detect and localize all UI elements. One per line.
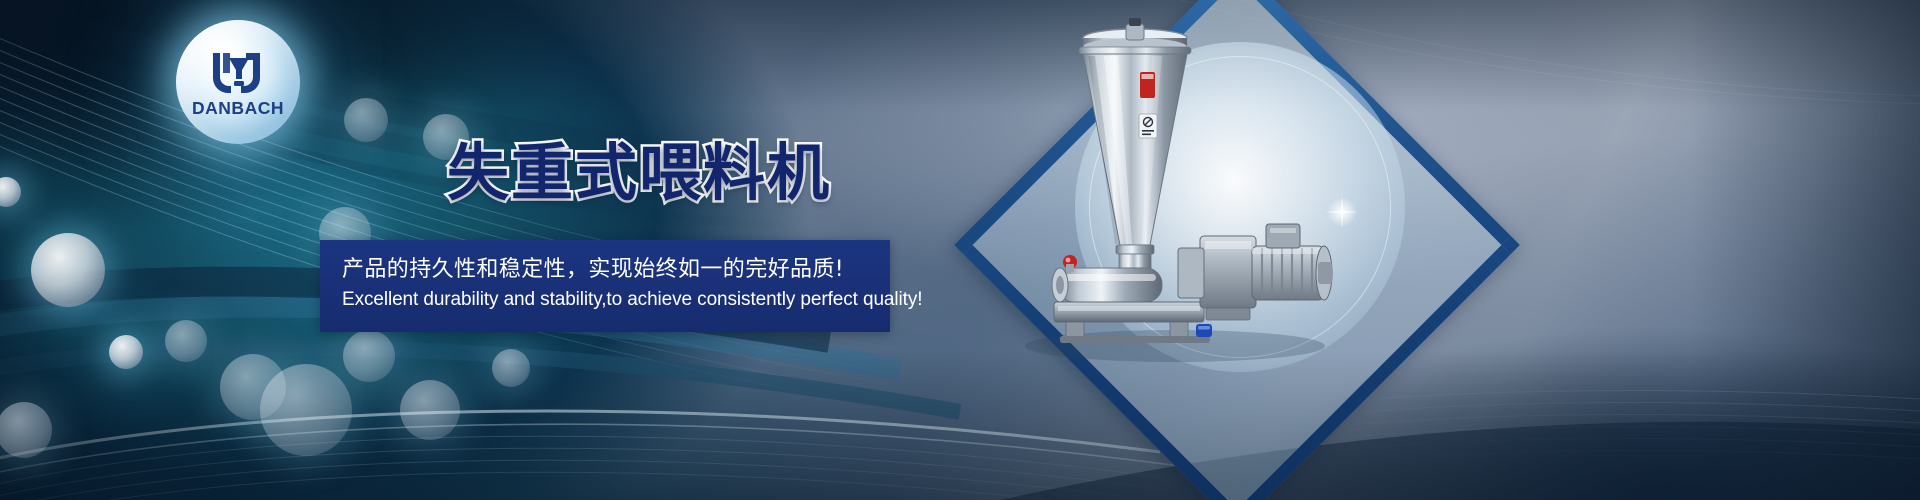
danbach-logo[interactable]: DANBACH (176, 20, 300, 144)
tagline-english: Excellent durability and stability,to ac… (342, 285, 890, 314)
blue-indicator-knob (1196, 324, 1212, 337)
page-title: 失重式喂料机 (447, 122, 831, 212)
logo-wordmark: DANBACH (192, 98, 284, 119)
tagline-box: 产品的持久性和稳定性，实现始终如一的完好品质! Excellent durabi… (320, 240, 890, 332)
bokeh-orb-icon (31, 233, 105, 307)
bokeh-orb-icon (400, 380, 460, 440)
bokeh-orb-icon (165, 320, 207, 362)
loss-in-weight-feeder-image (1000, 10, 1420, 390)
tagline-chinese: 产品的持久性和稳定性，实现始终如一的完好品质! (342, 255, 890, 285)
bokeh-orb-icon (109, 335, 143, 369)
bokeh-orb-icon (344, 98, 388, 142)
bokeh-orb-icon (343, 330, 395, 382)
bokeh-orb-icon (260, 364, 352, 456)
product-showcase (900, 0, 1700, 500)
bokeh-orb-icon (492, 349, 530, 387)
danbach-emblem-icon (203, 49, 273, 97)
product-banner: DANBACH 失重式喂料机 产品的持久性和稳定性，实现始终如一的完好品质! E… (0, 0, 1920, 500)
